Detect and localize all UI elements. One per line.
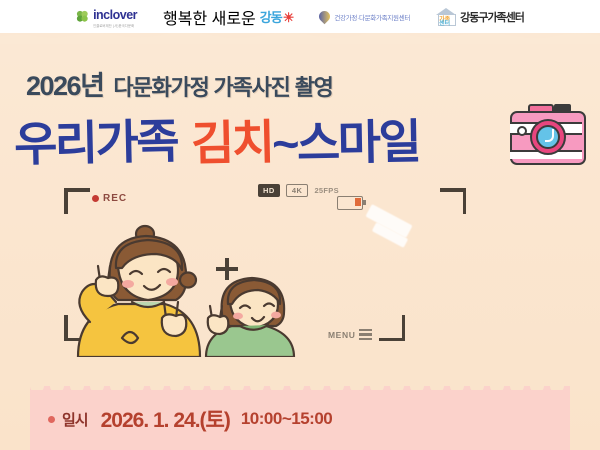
rec-indicator: REC [92, 193, 127, 204]
headline-part3: ~스마일 [272, 103, 420, 175]
video-quality-hud: HD 4K 25FPS [258, 184, 339, 197]
menu-indicator: MENU [328, 329, 372, 340]
hamburger-icon [359, 329, 372, 340]
logo-multicultural-family: 건강가정·다문화가족지원센터 [319, 11, 410, 22]
menu-label: MENU [328, 330, 355, 340]
subtitle: 2026년 다문화가정 가족사진 촬영 [26, 64, 333, 103]
logo-inclover-sub: 인클로버재단 (사)한국다문화 [93, 24, 137, 28]
sun-icon: ☀ [283, 10, 294, 26]
family-drop-icon [317, 9, 333, 25]
headline-part2: 김치 [190, 103, 273, 174]
house-icon: 가족 센터 [436, 8, 456, 25]
logo-gangdong-prefix: 행복한 새로운 [163, 5, 256, 29]
viewfinder-corner-top-left [64, 188, 90, 214]
clover-icon [76, 10, 89, 23]
panel-scalloped-edge [30, 386, 570, 397]
logo-multicultural-label: 건강가정·다문화가족지원센터 [334, 12, 410, 22]
schedule-panel: 일시 2026. 1. 24.(토) 10:00~15:00 [30, 390, 570, 450]
rec-dot-icon [92, 195, 99, 202]
schedule-key: 일시 [62, 409, 88, 430]
camera-icon [508, 104, 586, 166]
rec-label: REC [103, 193, 127, 204]
house-mark-bottom: 센터 [439, 18, 450, 27]
logo-inclover: inclover 인클로버재단 (사)한국다문화 [76, 6, 137, 28]
viewfinder-corner-top-right [440, 188, 466, 214]
subtitle-year: 2026년 [26, 64, 103, 103]
sponsor-logo-band: inclover 인클로버재단 (사)한국다문화 행복한 새로운 강동 ☀ 건강… [0, 0, 600, 33]
fourk-badge: 4K [286, 184, 309, 197]
logo-inclover-label: inclover [93, 8, 137, 22]
headline-part1: 우리가족 [13, 102, 177, 174]
schedule-date: 2026. 1. 24.(토) [101, 404, 230, 434]
hd-badge: HD [258, 184, 280, 197]
schedule-time: 10:00~15:00 [241, 409, 332, 429]
fps-label: 25FPS [314, 186, 338, 195]
logo-gangdong-family-center: 가족 센터 강동구가족센터 [436, 8, 524, 25]
logo-gangdong-label: 강동 ☀ [260, 7, 294, 26]
poster-canvas: inclover 인클로버재단 (사)한국다문화 행복한 새로운 강동 ☀ 건강… [0, 0, 600, 450]
schedule-row: 일시 2026. 1. 24.(토) 10:00~15:00 [48, 404, 332, 434]
bullet-dot-icon [48, 416, 55, 423]
subtitle-text: 다문화가정 가족사진 촬영 [113, 70, 332, 102]
logo-family-center-label: 강동구가족센터 [460, 9, 524, 25]
viewfinder-corner-bottom-right [379, 315, 405, 341]
family-illustration [60, 222, 310, 357]
headline: 우리가족 김치 ~스마일 [14, 104, 420, 173]
logo-gangdong-happy: 행복한 새로운 강동 ☀ [163, 5, 293, 29]
battery-icon [337, 196, 363, 210]
